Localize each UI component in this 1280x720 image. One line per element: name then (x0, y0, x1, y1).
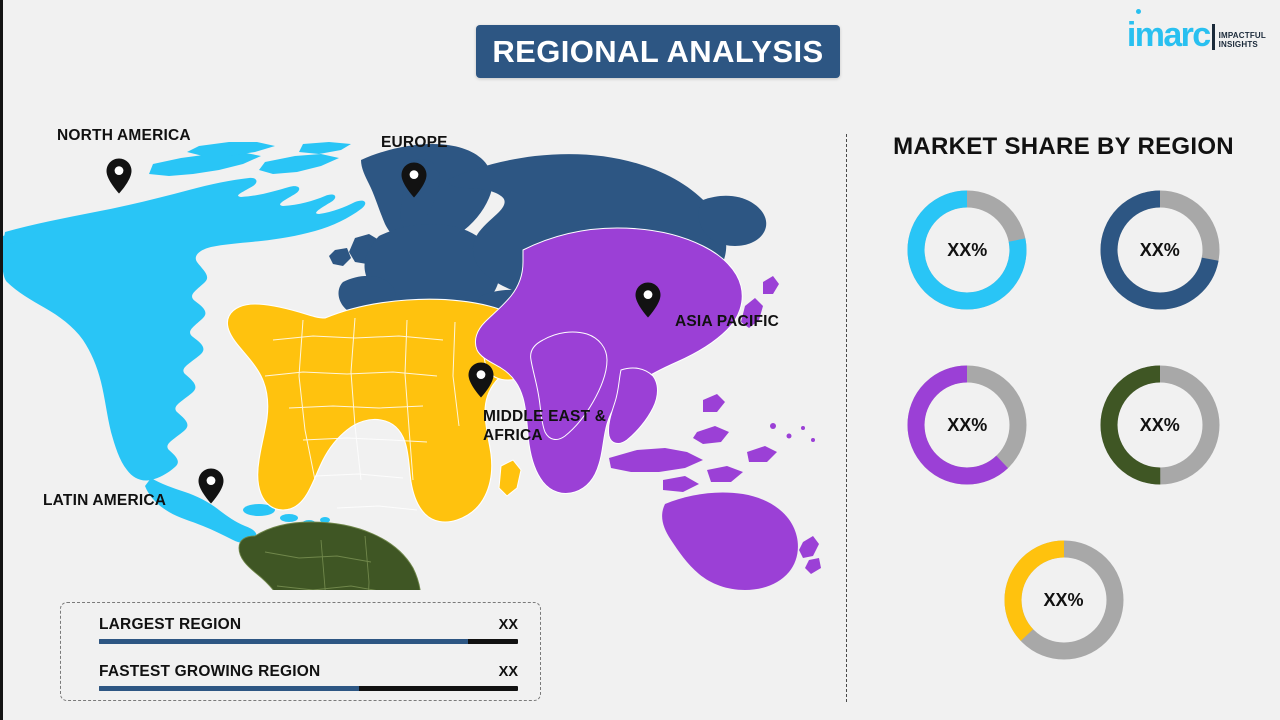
fastest-growing-region-label: FASTEST GROWING REGION (99, 663, 320, 681)
donut-row-3: XX% (871, 535, 1256, 665)
market-share-donut-grid: XX% XX% XX% (871, 185, 1256, 690)
donut-north-america[interactable]: XX% (903, 186, 1031, 314)
donut-europe-svg (1096, 186, 1224, 314)
infographic-canvas: REGIONAL ANALYSIS imarc IMPACTFUL INSIGH… (0, 0, 1280, 720)
market-share-title: MARKET SHARE BY REGION (891, 133, 1236, 161)
world-map: NORTH AMERICA EUROPE MIDDLE EAST & AFRIC… (3, 140, 823, 590)
map-pin-europe[interactable] (401, 162, 427, 198)
donut-middle-east-africa-svg (1000, 536, 1128, 664)
largest-region-row: LARGEST REGION XX (99, 616, 518, 656)
largest-region-bar-fill (99, 639, 468, 644)
map-pin-latin-america[interactable] (198, 468, 224, 504)
fastest-growing-region-bar (99, 686, 518, 691)
logo-wordmark: imarc (1127, 18, 1210, 52)
largest-region-label: LARGEST REGION (99, 616, 241, 634)
map-label-north-america: NORTH AMERICA (57, 127, 191, 146)
logo-tagline-line1: IMPACTFUL (1219, 31, 1266, 40)
fastest-growing-region-row: FASTEST GROWING REGION XX (99, 663, 518, 703)
donut-latin-america-svg (1096, 361, 1224, 489)
logo-divider (1212, 24, 1215, 50)
fastest-growing-region-value: XX (499, 664, 518, 680)
donut-row-1: XX% XX% (871, 185, 1256, 315)
map-label-europe: EUROPE (381, 134, 448, 153)
map-pin-middle-east-africa[interactable] (468, 362, 494, 398)
fastest-growing-region-bar-fill (99, 686, 359, 691)
page-title: REGIONAL ANALYSIS (492, 34, 823, 70)
page-title-banner: REGIONAL ANALYSIS (476, 25, 840, 78)
logo-tagline-line2: INSIGHTS (1219, 40, 1266, 49)
logo-tagline: IMPACTFUL INSIGHTS (1219, 31, 1266, 52)
donut-asia-pacific[interactable]: XX% (903, 361, 1031, 489)
donut-middle-east-africa[interactable]: XX% (1000, 536, 1128, 664)
largest-region-value: XX (499, 617, 518, 633)
donut-north-america-svg (903, 186, 1031, 314)
map-group-latin-america[interactable] (239, 522, 421, 590)
logo-wordmark-text: imarc (1127, 16, 1210, 54)
map-pin-north-america[interactable] (106, 158, 132, 194)
map-label-middle-east-africa: MIDDLE EAST & AFRICA (483, 408, 606, 446)
imarc-logo: imarc IMPACTFUL INSIGHTS (1127, 14, 1266, 52)
largest-region-bar (99, 639, 518, 644)
panel-divider (846, 134, 847, 702)
map-label-latin-america: LATIN AMERICA (43, 492, 166, 511)
map-pin-asia-pacific[interactable] (635, 282, 661, 318)
donut-row-2: XX% XX% (871, 360, 1256, 490)
donut-europe[interactable]: XX% (1096, 186, 1224, 314)
logo-dot-icon (1136, 9, 1141, 14)
donut-asia-pacific-svg (903, 361, 1031, 489)
world-map-svg (3, 140, 823, 590)
map-label-asia-pacific: ASIA PACIFIC (675, 313, 779, 332)
donut-latin-america[interactable]: XX% (1096, 361, 1224, 489)
region-summary-box: LARGEST REGION XX FASTEST GROWING REGION… (60, 602, 541, 701)
